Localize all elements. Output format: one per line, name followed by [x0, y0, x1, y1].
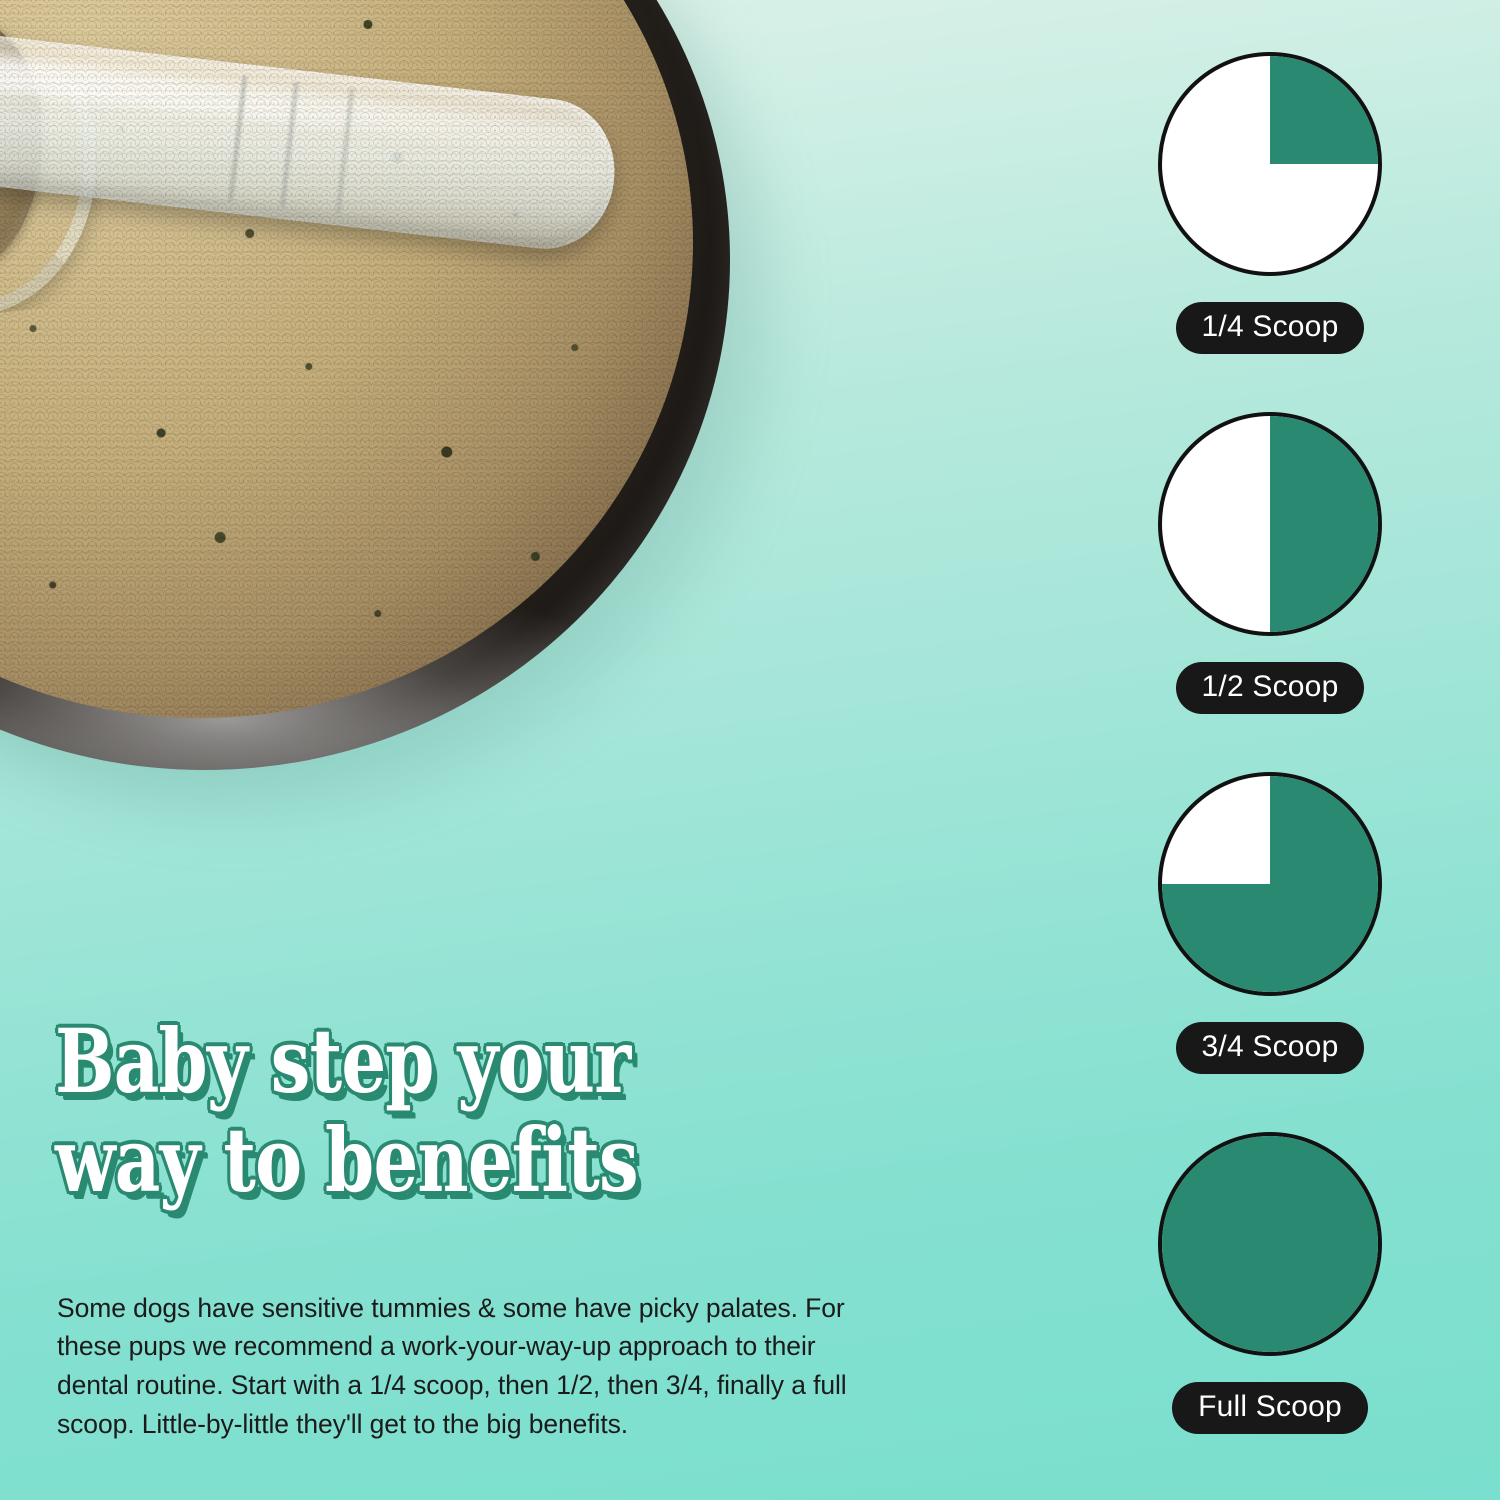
scoop-dial-full: Full Scoop — [1120, 1132, 1420, 1434]
scoop-dial-quarter: 1/4 Scoop — [1120, 52, 1420, 354]
dial-circle-three-quarter — [1158, 772, 1382, 996]
scoop-dial-half: 1/2 Scoop — [1120, 412, 1420, 714]
page-title: Baby step your way to benefits — [55, 1012, 727, 1209]
dial-fill-three-quarter — [1162, 776, 1378, 992]
body-paragraph: Some dogs have sensitive tummies & some … — [57, 1289, 847, 1444]
dental-powder-surface — [0, 0, 693, 718]
jar-body — [0, 0, 730, 770]
dial-label-half: 1/2 Scoop — [1176, 662, 1365, 714]
dial-label-quarter: 1/4 Scoop — [1176, 302, 1365, 354]
scoop-guide-list: 1/4 Scoop 1/2 Scoop 3/4 Scoop Full Scoop — [1120, 0, 1420, 1500]
product-photo — [0, 0, 950, 900]
dial-label-full: Full Scoop — [1172, 1382, 1368, 1434]
measuring-scoop-handle — [0, 30, 622, 256]
scoop-bowl-rim — [0, 0, 112, 329]
jar-drop-shadow — [0, 0, 780, 820]
dial-label-three-quarter: 3/4 Scoop — [1176, 1022, 1365, 1074]
dial-circle-full — [1158, 1132, 1382, 1356]
dial-fill-half — [1162, 416, 1378, 632]
jar-rim-highlight — [0, 0, 730, 770]
scoop-cavity — [0, 2, 52, 280]
dial-fill-quarter — [1162, 56, 1378, 272]
scoop-dial-three-quarter: 3/4 Scoop — [1120, 772, 1420, 1074]
promo-graphic-canvas: Baby step your way to benefits Some dogs… — [0, 0, 1500, 1500]
dial-fill-full — [1162, 1136, 1378, 1352]
dial-circle-half — [1158, 412, 1382, 636]
dial-circle-quarter — [1158, 52, 1382, 276]
